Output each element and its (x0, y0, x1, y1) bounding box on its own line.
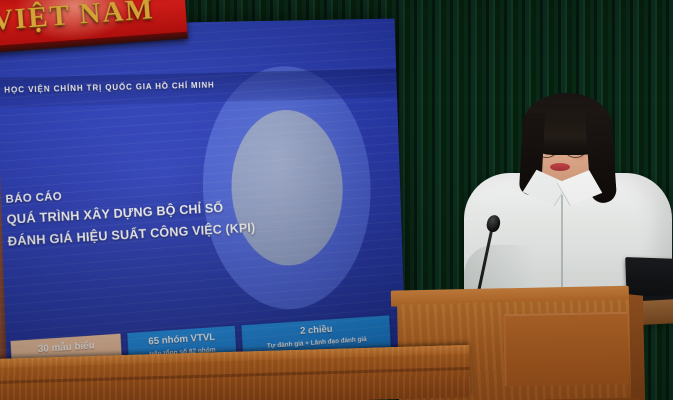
podium-inset-panel (503, 312, 628, 387)
speaker-lips (550, 163, 570, 171)
screenshot-stage: HỌC VIỆN CHÍNH TRỊ QUỐC GIA HỒ CHÍ MINH … (0, 0, 673, 400)
right-table-edge (639, 299, 673, 325)
projection-screen: HỌC VIỆN CHÍNH TRỊ QUỐC GIA HỒ CHÍ MINH … (0, 19, 406, 371)
